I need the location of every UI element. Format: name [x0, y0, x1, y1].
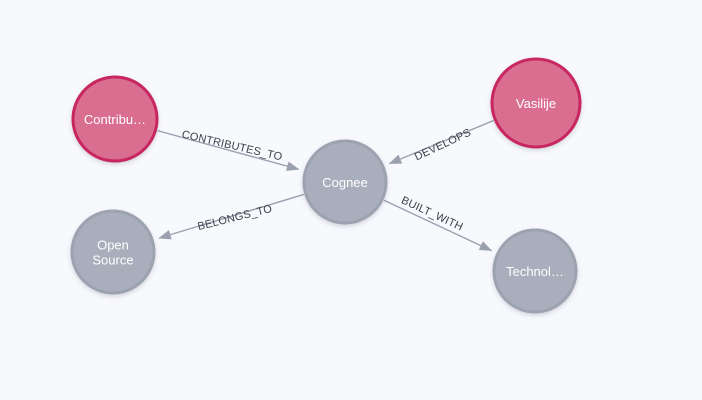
node-circle-technology[interactable] [494, 230, 576, 312]
node-circle-open_source[interactable] [72, 211, 154, 293]
knowledge-graph-canvas[interactable]: Contribu…VasilijeCogneeOpenSourceTechnol… [0, 0, 702, 400]
graph-node-vasilije[interactable]: Vasilije [492, 59, 580, 147]
edge-built-with-label: BUILT_WITH [399, 194, 464, 233]
graph-node-technology[interactable]: Technol… [494, 230, 576, 312]
node-circle-contributor[interactable] [73, 77, 157, 161]
graph-node-cognee[interactable]: Cognee [304, 141, 386, 223]
graph-node-contributor[interactable]: Contribu… [73, 77, 157, 161]
edge-belongs-to[interactable] [159, 194, 304, 238]
edge-contributes-to-label: CONTRIBUTES_TO [181, 129, 284, 164]
node-circle-cognee[interactable] [304, 141, 386, 223]
edge-contributes-to[interactable] [157, 131, 298, 170]
graph-node-open_source[interactable]: OpenSource [72, 211, 154, 293]
node-circle-vasilije[interactable] [492, 59, 580, 147]
edge-develops[interactable] [389, 121, 493, 164]
nodes-layer: Contribu…VasilijeCogneeOpenSourceTechnol… [72, 59, 580, 312]
edge-built-with[interactable] [384, 200, 492, 250]
